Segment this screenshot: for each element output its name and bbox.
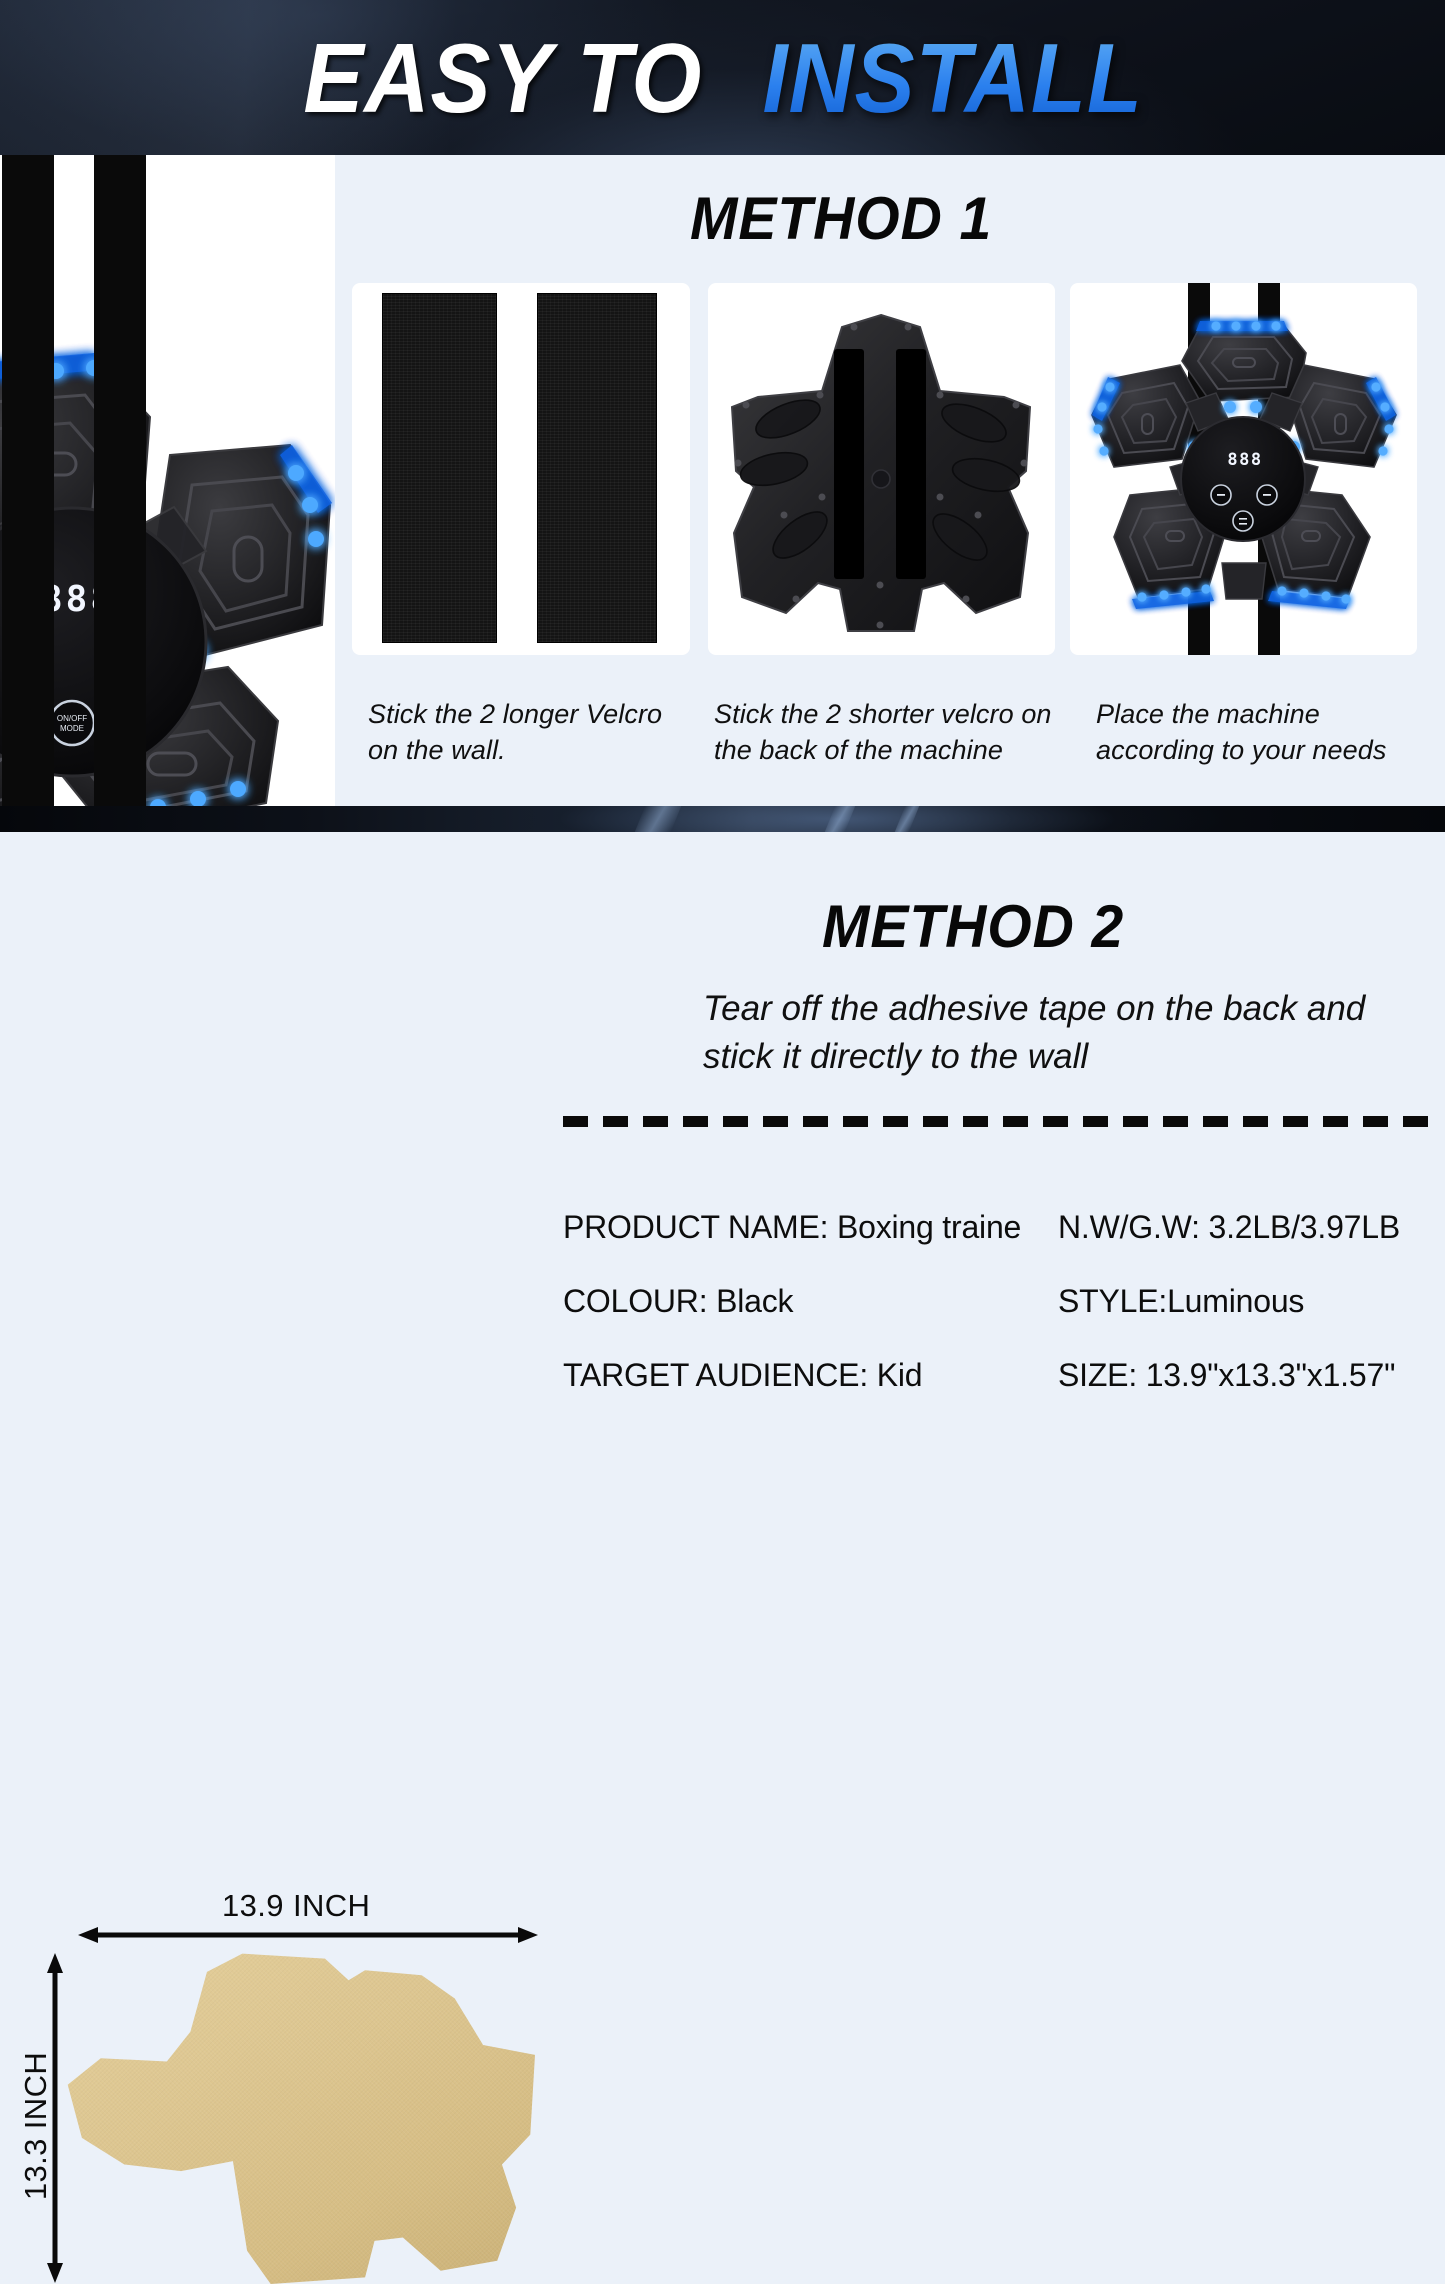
machine-button-power-mode: ON/OFF MODE xyxy=(50,701,94,745)
adhesive-backing-texture xyxy=(63,1952,535,2284)
backplate-slot-left xyxy=(834,349,864,579)
panel-velcro-strips xyxy=(352,283,690,655)
mounted-pad-upper-left xyxy=(1092,365,1200,467)
adhesive-backing-shape xyxy=(63,1952,535,2284)
dimension-arrow-vertical xyxy=(45,1953,65,2283)
panel-machine-backplate xyxy=(708,283,1055,655)
velcro-strap-left xyxy=(2,155,54,806)
dimension-width-label: 13.9 INCH xyxy=(222,1888,370,1924)
velcro-strip-long-1 xyxy=(382,293,497,643)
dashed-divider xyxy=(563,1116,1443,1127)
velcro-strap-right xyxy=(94,155,146,806)
panel-caption-3: Place the machine according to your need… xyxy=(1096,697,1426,768)
svg-text:MODE: MODE xyxy=(60,724,84,733)
backplate-illustration xyxy=(708,283,1055,655)
hero-photo-wall-mounted-machine: 888 VOL- VOL+ ON/OFF MODE xyxy=(0,155,335,806)
page-title-white-part: EASY TO xyxy=(303,29,702,127)
mounted-led-display: 888 xyxy=(1227,450,1262,470)
mounted-control-hub: 888 xyxy=(1181,417,1305,541)
spec-net-gross-weight: N.W/G.W: 3.2LB/3.97LB xyxy=(1058,1209,1443,1246)
header-banner: EASY TO INSTALL xyxy=(0,0,1445,155)
panel-caption-1: Stick the 2 longer Velcro on the wall. xyxy=(368,697,688,768)
velcro-strip-long-2 xyxy=(537,293,657,643)
mounted-pad-upper-right xyxy=(1288,365,1396,467)
page-title: EASY TO INSTALL xyxy=(0,0,1445,155)
panel-caption-2: Stick the 2 shorter velcro on the back o… xyxy=(714,697,1064,768)
panel-machine-mounted: 888 xyxy=(1070,283,1417,655)
spec-style: STYLE:Luminous xyxy=(1058,1283,1443,1320)
method-2-heading: METHOD 2 xyxy=(822,892,1124,961)
divider-streak-2 xyxy=(825,806,856,832)
spec-target-audience: TARGET AUDIENCE: Kid xyxy=(563,1357,1058,1394)
mounted-button-power-mode xyxy=(1233,511,1253,531)
spec-product-name: PRODUCT NAME: Boxing traine xyxy=(563,1209,1058,1246)
svg-text:ON/OFF: ON/OFF xyxy=(57,714,87,723)
spec-size: SIZE: 13.9"x13.3"x1.57" xyxy=(1058,1357,1443,1394)
spec-colour: COLOUR: Black xyxy=(563,1283,1058,1320)
page-title-blue-part: INSTALL xyxy=(762,29,1142,127)
divider-streak-3 xyxy=(895,806,920,832)
method-1-heading: METHOD 1 xyxy=(690,184,992,253)
backplate-slot-right xyxy=(896,349,926,579)
method-2-description: Tear off the adhesive tape on the back a… xyxy=(703,985,1443,1080)
product-specs-table: PRODUCT NAME: Boxing traine N.W/G.W: 3.2… xyxy=(563,1190,1443,1412)
mounted-machine-illustration: 888 xyxy=(1070,283,1417,655)
backing-dimension-diagram: 13.9 INCH 13.3 INCH xyxy=(0,940,560,1360)
section-divider-band xyxy=(0,806,1445,832)
divider-streak-1 xyxy=(635,806,682,832)
dimension-arrow-horizontal xyxy=(78,1925,538,1945)
